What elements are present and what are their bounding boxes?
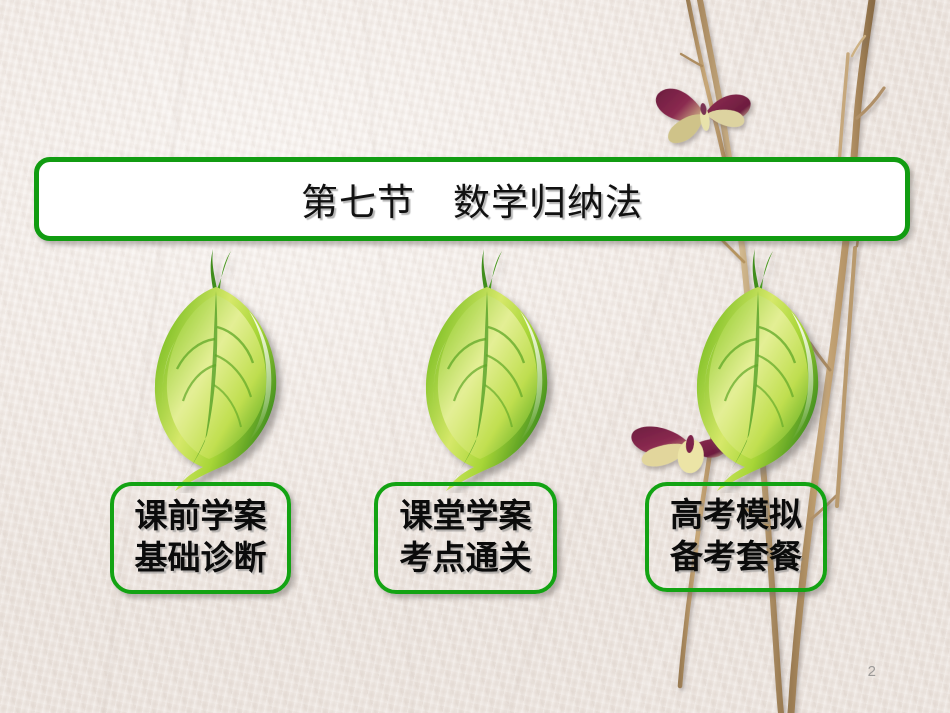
leaf-icon-1 — [141, 243, 291, 493]
leaf-icon-2 — [412, 243, 562, 493]
page-number: 2 — [868, 663, 876, 680]
slide-title-bar: 第七节 数学归纳法 — [34, 157, 910, 241]
page-title: 第七节 数学归纳法 — [301, 172, 643, 226]
section-button-exam-prep[interactable]: 高考模拟 备考套餐 — [645, 482, 827, 592]
section-button-exam-prep-label: 高考模拟 备考套餐 — [631, 495, 841, 579]
section-button-in-class[interactable]: 课堂学案 考点通关 — [374, 482, 557, 594]
section-button-pre-class-label: 课前学案 基础诊断 — [117, 496, 285, 580]
slide-canvas: 第七节 数学归纳法 — [0, 0, 950, 713]
section-button-pre-class[interactable]: 课前学案 基础诊断 — [110, 482, 291, 594]
butterfly-top — [654, 78, 754, 145]
twig-spike — [837, 216, 858, 506]
section-button-in-class-label: 课堂学案 考点通关 — [361, 496, 571, 580]
leaf-icon-3 — [683, 243, 833, 493]
